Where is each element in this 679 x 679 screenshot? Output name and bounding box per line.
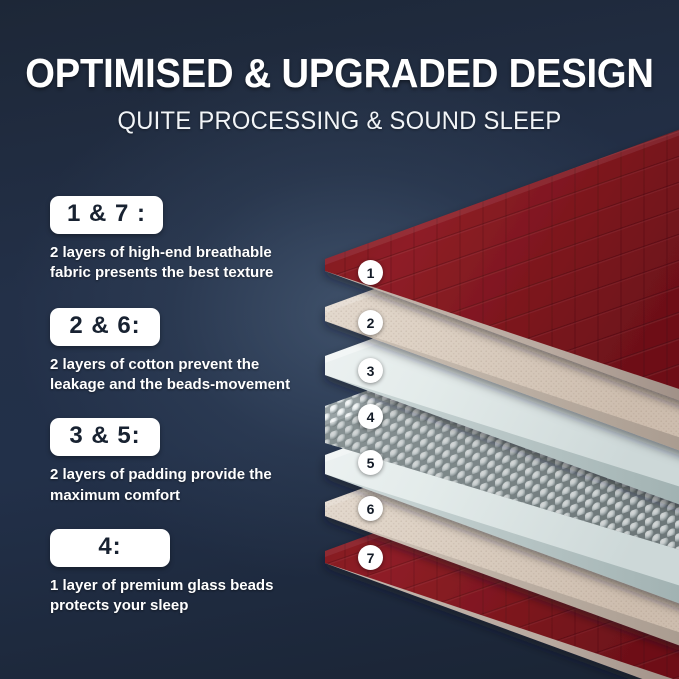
info-block-label-2-and-6: 2 & 6: xyxy=(50,308,160,346)
layer-badge-2: 2 xyxy=(358,310,383,335)
page-subtitle: QUITE PROCESSING & SOUND SLEEP xyxy=(17,107,662,136)
info-block-description-3-and-5: 2 layers of padding provide the maximum … xyxy=(50,465,310,506)
infographic-poster: OPTIMISED & UPGRADED DESIGN QUITE PROCES… xyxy=(0,0,679,679)
layer-badge-4: 4 xyxy=(358,404,383,429)
info-block-list: 1 & 7 : 2 layers of high-end breathable … xyxy=(50,196,350,639)
layer-badge-7: 7 xyxy=(358,545,383,570)
info-block-4: 4: 1 layer of premium glass beads protec… xyxy=(50,529,350,617)
info-block-3-and-5: 3 & 5: 2 layers of padding provide the m… xyxy=(50,418,350,506)
layer-badge-5: 5 xyxy=(358,450,383,475)
info-block-description-1-and-7: 2 layers of high-end breathable fabric p… xyxy=(50,243,310,284)
info-block-1-and-7: 1 & 7 : 2 layers of high-end breathable … xyxy=(50,196,350,284)
layer-badge-6: 6 xyxy=(358,496,383,521)
info-block-description-2-and-6: 2 layers of cotton prevent the leakage a… xyxy=(50,355,310,396)
info-block-2-and-6: 2 & 6: 2 layers of cotton prevent the le… xyxy=(50,308,350,396)
header: OPTIMISED & UPGRADED DESIGN QUITE PROCES… xyxy=(0,0,679,136)
info-block-description-4: 1 layer of premium glass beads protects … xyxy=(50,576,310,617)
layer-badge-3: 3 xyxy=(358,358,383,383)
layer-badge-1: 1 xyxy=(358,260,383,285)
info-block-label-4: 4: xyxy=(50,529,170,567)
info-block-label-3-and-5: 3 & 5: xyxy=(50,418,160,456)
info-block-label-1-and-7: 1 & 7 : xyxy=(50,196,163,234)
page-title: OPTIMISED & UPGRADED DESIGN xyxy=(24,52,655,95)
